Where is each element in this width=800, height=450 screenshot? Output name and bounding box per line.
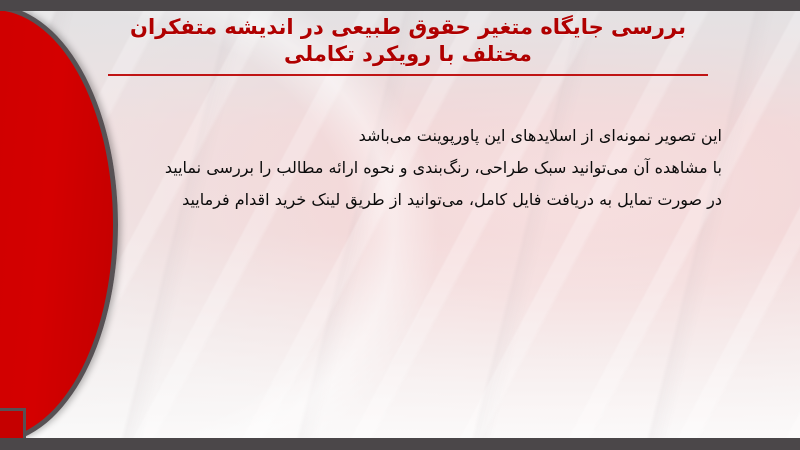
body-line-2: با مشاهده آن می‌توانید سبک طراحی، رنگ‌بن… — [120, 152, 722, 184]
title-line-2: مختلف با رویکرد تکاملی — [108, 41, 708, 68]
title-underline-rule — [108, 74, 708, 76]
title-line-1: بررسی جایگاه متغیر حقوق طبیعی در اندیشه … — [108, 14, 708, 41]
slide-body: این تصویر نمونه‌ای از اسلایدهای این پاور… — [120, 120, 722, 216]
body-line-3: در صورت تمایل به دریافت فایل کامل، می‌تو… — [120, 184, 722, 216]
top-bar — [0, 0, 800, 11]
bottom-left-red-tab — [0, 408, 26, 438]
bottom-bar — [0, 438, 800, 450]
slide-title: بررسی جایگاه متغیر حقوق طبیعی در اندیشه … — [108, 14, 708, 76]
red-ellipse-shape — [0, 11, 118, 438]
body-line-1: این تصویر نمونه‌ای از اسلایدهای این پاور… — [120, 120, 722, 152]
presentation-slide: بررسی جایگاه متغیر حقوق طبیعی در اندیشه … — [0, 0, 800, 450]
